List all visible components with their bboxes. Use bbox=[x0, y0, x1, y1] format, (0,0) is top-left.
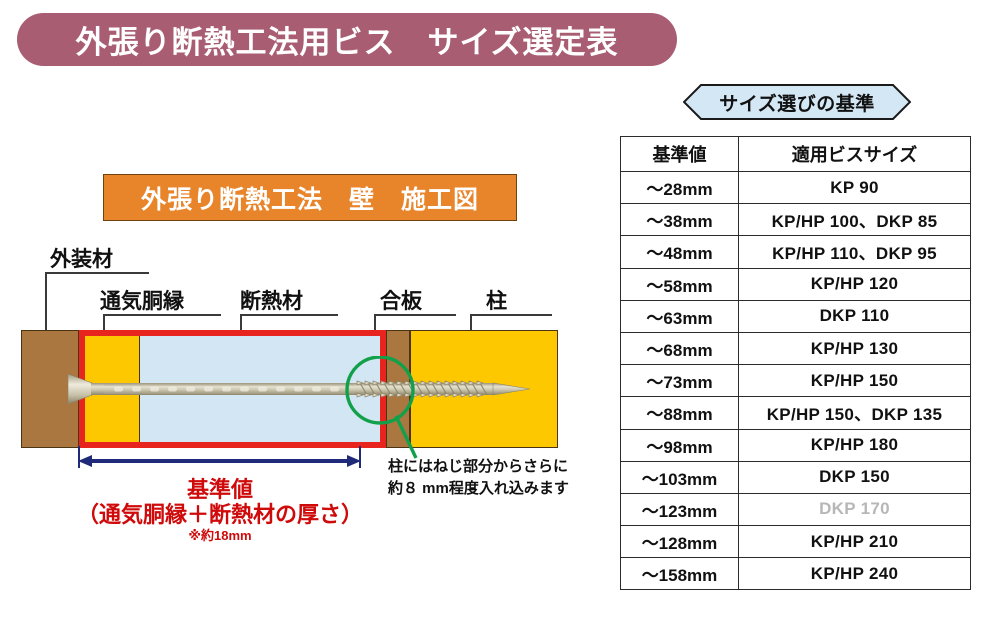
table-row: 〜63mmDKP 110 bbox=[621, 300, 971, 332]
table-row: 〜38mmKP/HP 100、DKP 85 bbox=[621, 204, 971, 236]
cell-standard-value: 〜123mm bbox=[621, 493, 739, 525]
leader-exterior-horizontal bbox=[45, 272, 149, 274]
cell-screw-size: KP/HP 180 bbox=[739, 429, 971, 461]
embedment-note: 柱にはねじ部分からさらに 約８ mm程度入れ込みます bbox=[388, 456, 569, 500]
cell-screw-size: DKP 110 bbox=[739, 300, 971, 332]
poster-root: 外張り断熱工法用ビス サイズ選定表 サイズ選びの基準 基準値 適用ビスサイズ 〜… bbox=[0, 0, 1000, 623]
table-row: 〜73mmKP/HP 150 bbox=[621, 365, 971, 397]
table-row: 〜28mmKP 90 bbox=[621, 172, 971, 204]
page-title: 外張り断熱工法用ビス サイズ選定表 bbox=[75, 17, 618, 62]
size-selection-table: 基準値 適用ビスサイズ 〜28mmKP 90〜38mmKP/HP 100、DKP… bbox=[620, 136, 971, 590]
size-criteria-banner: サイズ選びの基準 bbox=[683, 84, 911, 120]
table-header-row: 基準値 適用ビスサイズ bbox=[621, 137, 971, 172]
cell-screw-size: KP/HP 210 bbox=[739, 526, 971, 558]
leader-post-horizontal bbox=[470, 314, 552, 316]
embedment-note-line1: 柱にはねじ部分からさらに bbox=[388, 456, 569, 478]
table-row: 〜58mmKP/HP 120 bbox=[621, 268, 971, 300]
table-row: 〜103mmDKP 150 bbox=[621, 461, 971, 493]
cell-standard-value: 〜28mm bbox=[621, 172, 739, 204]
leader-furring-horizontal bbox=[103, 314, 221, 316]
table-row: 〜98mmKP/HP 180 bbox=[621, 429, 971, 461]
cell-screw-size: KP/HP 130 bbox=[739, 332, 971, 364]
cell-screw-size: KP/HP 120 bbox=[739, 268, 971, 300]
diagram-caption: 外張り断熱工法 壁 施工図 bbox=[141, 180, 479, 216]
column-header-standard: 基準値 bbox=[621, 137, 739, 172]
cell-standard-value: 〜58mm bbox=[621, 268, 739, 300]
leader-plywood-horizontal bbox=[374, 314, 456, 316]
leader-insulation-horizontal bbox=[240, 314, 338, 316]
cell-standard-value: 〜63mm bbox=[621, 300, 739, 332]
cell-standard-value: 〜158mm bbox=[621, 558, 739, 590]
cell-screw-size: KP/HP 110、DKP 95 bbox=[739, 236, 971, 268]
cell-standard-value: 〜48mm bbox=[621, 236, 739, 268]
table-row: 〜123mmDKP 170 bbox=[621, 493, 971, 525]
wall-section-diagram: 外張り断熱工法 壁 施工図 外装材 通気胴縁 断熱材 合板 柱 bbox=[0, 150, 600, 550]
table-row: 〜128mmKP/HP 210 bbox=[621, 526, 971, 558]
table-row: 〜68mmKP/HP 130 bbox=[621, 332, 971, 364]
table-row: 〜48mmKP/HP 110、DKP 95 bbox=[621, 236, 971, 268]
label-plywood: 合板 bbox=[380, 285, 422, 315]
cell-screw-size: KP/HP 150 bbox=[739, 365, 971, 397]
screw-embedment-highlight-icon bbox=[338, 356, 558, 466]
label-insulation: 断熱材 bbox=[240, 285, 303, 315]
cell-standard-value: 〜128mm bbox=[621, 526, 739, 558]
column-header-screw-size: 適用ビスサイズ bbox=[739, 137, 971, 172]
label-exterior: 外装材 bbox=[50, 243, 113, 273]
cell-standard-value: 〜88mm bbox=[621, 397, 739, 429]
table-row: 〜158mmKP/HP 240 bbox=[621, 558, 971, 590]
cell-screw-size: DKP 170 bbox=[739, 493, 971, 525]
cell-standard-value: 〜68mm bbox=[621, 332, 739, 364]
size-criteria-banner-label: サイズ選びの基準 bbox=[683, 84, 911, 120]
double-arrow-icon bbox=[78, 454, 361, 468]
diagram-caption-box: 外張り断熱工法 壁 施工図 bbox=[103, 174, 517, 221]
table-row: 〜88mmKP/HP 150、DKP 135 bbox=[621, 397, 971, 429]
cell-standard-value: 〜38mm bbox=[621, 204, 739, 236]
cell-screw-size: DKP 150 bbox=[739, 461, 971, 493]
dimension-label-note: ※約18mm bbox=[80, 525, 360, 544]
embedment-note-line2: 約８ mm程度入れ込みます bbox=[388, 478, 569, 500]
cell-standard-value: 〜103mm bbox=[621, 461, 739, 493]
page-title-banner: 外張り断熱工法用ビス サイズ選定表 bbox=[17, 13, 677, 66]
cell-screw-size: KP/HP 150、DKP 135 bbox=[739, 397, 971, 429]
leader-exterior-vertical bbox=[45, 272, 47, 339]
cell-standard-value: 〜73mm bbox=[621, 365, 739, 397]
cell-standard-value: 〜98mm bbox=[621, 429, 739, 461]
cell-screw-size: KP/HP 240 bbox=[739, 558, 971, 590]
cell-screw-size: KP 90 bbox=[739, 172, 971, 204]
label-post: 柱 bbox=[486, 285, 507, 315]
label-furring: 通気胴縁 bbox=[100, 285, 184, 315]
dimension-arrow-group bbox=[78, 450, 361, 472]
cell-screw-size: KP/HP 100、DKP 85 bbox=[739, 204, 971, 236]
